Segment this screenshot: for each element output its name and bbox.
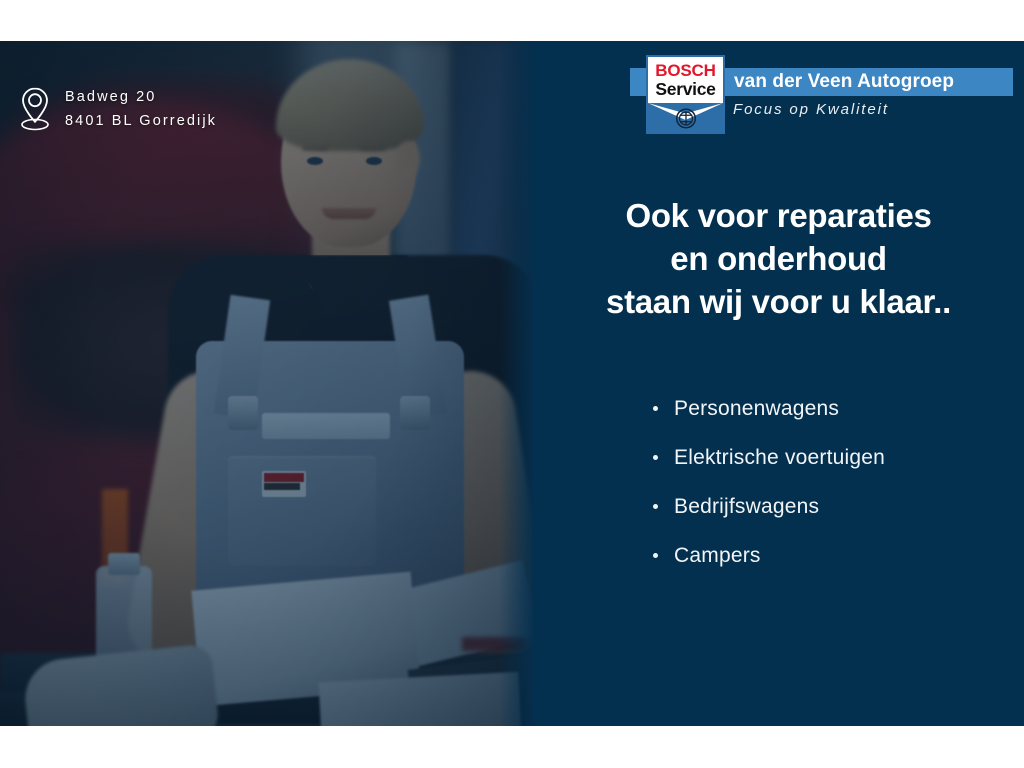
headline-line-1: Ook voor reparaties xyxy=(533,194,1024,237)
list-item: Bedrijfswagens xyxy=(653,482,1024,531)
address-line-1: Badweg 20 xyxy=(65,85,217,109)
photo-vignette xyxy=(0,41,533,726)
list-item: Campers xyxy=(653,531,1024,580)
photo-scene xyxy=(0,41,533,726)
service-wordmark: Service xyxy=(648,79,723,100)
promo-banner: Badweg 20 8401 BL Gorredijk BOSCH Servic… xyxy=(0,41,1024,726)
bosch-armature-icon xyxy=(675,108,696,129)
address-line-2: 8401 BL Gorredijk xyxy=(65,109,217,133)
content-panel: BOSCH Service van der Veen Autogroep Foc… xyxy=(533,41,1024,726)
bosch-service-logo: BOSCH Service xyxy=(646,55,725,134)
location-pin-icon xyxy=(18,86,52,132)
list-item: Personenwagens xyxy=(653,384,1024,433)
mechanic-photo: Badweg 20 8401 BL Gorredijk xyxy=(0,41,533,726)
company-tagline: Focus op Kwaliteit xyxy=(733,101,889,118)
bosch-wordmark: BOSCH xyxy=(648,61,723,81)
address-block: Badweg 20 8401 BL Gorredijk xyxy=(18,85,217,133)
list-item: Elektrische voertuigen xyxy=(653,433,1024,482)
headline-line-2: en onderhoud xyxy=(533,237,1024,280)
company-name: van der Veen Autogroep xyxy=(734,69,1024,95)
headline-line-3: staan wij voor u klaar.. xyxy=(533,280,1024,323)
photo-edge-fade xyxy=(499,41,533,726)
services-list: Personenwagens Elektrische voertuigen Be… xyxy=(653,384,1024,580)
headline: Ook voor reparaties en onderhoud staan w… xyxy=(533,194,1024,323)
address-lines: Badweg 20 8401 BL Gorredijk xyxy=(65,85,217,133)
